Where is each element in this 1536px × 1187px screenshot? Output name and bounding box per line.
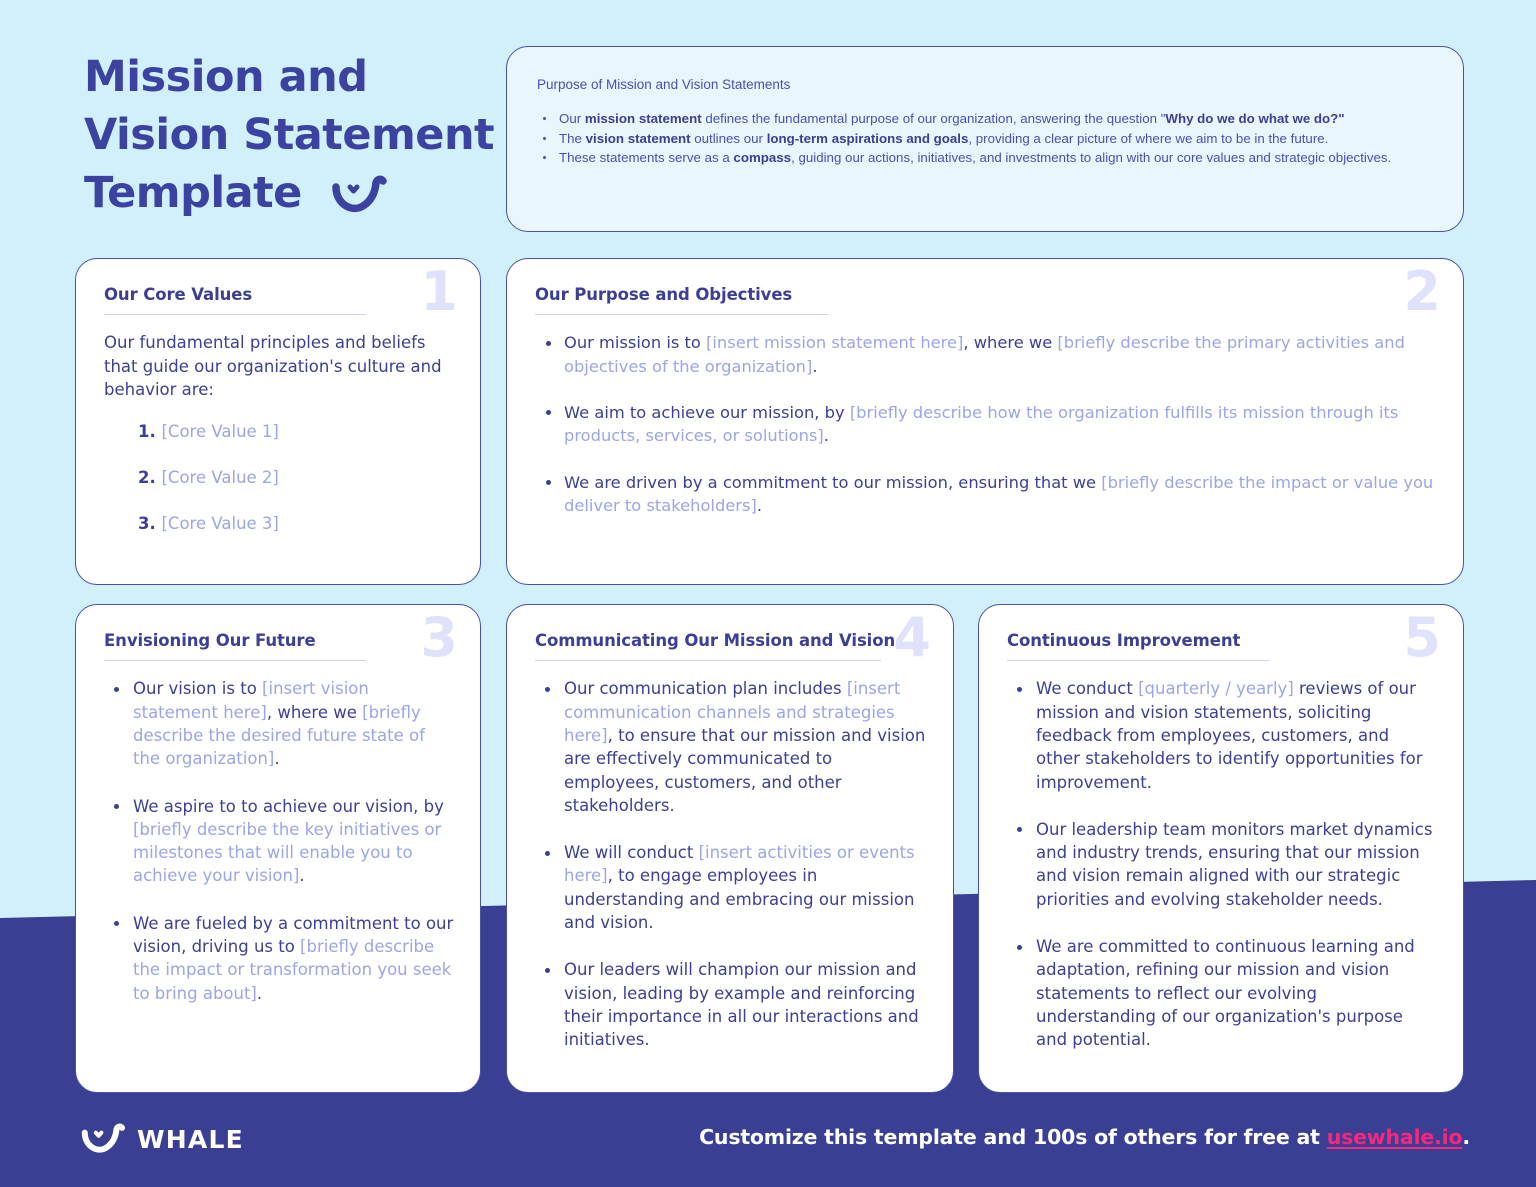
card-number-watermark: 4: [893, 611, 931, 665]
card-intro-text: Our fundamental principles and beliefs t…: [104, 331, 454, 402]
card-title: Envisioning Our Future: [104, 631, 454, 650]
placeholder-text[interactable]: [quarterly / yearly]: [1138, 679, 1294, 698]
card-bullet-item: Our leadership team monitors market dyna…: [1007, 818, 1437, 911]
body-text: , where we: [267, 703, 362, 722]
card-bullet-list: Our communication plan includes [insert …: [535, 677, 927, 1051]
page-title-line-3: Template: [84, 164, 484, 222]
body-text: Our leaders will champion our mission an…: [564, 960, 919, 1049]
card-bullet-list: Our mission is to [insert mission statem…: [535, 331, 1437, 517]
body-text: Our: [559, 111, 585, 126]
body-text: .: [257, 984, 262, 1003]
card-divider: [535, 660, 881, 661]
core-value-item: 2. [Core Value 2]: [138, 466, 454, 489]
card-title: Our Core Values: [104, 285, 454, 304]
card-title: Our Purpose and Objectives: [535, 285, 1437, 304]
body-text: .: [757, 496, 762, 515]
body-text: , to ensure that our mission and vision …: [564, 726, 925, 815]
card-bullet-item: Our communication plan includes [insert …: [535, 677, 927, 817]
card-bullet-item: We are committed to continuous learning …: [1007, 935, 1437, 1051]
purpose-bullet-item: These statements serve as a compass, gui…: [537, 148, 1433, 168]
core-value-number: 2.: [138, 468, 162, 487]
card-divider: [1007, 660, 1269, 661]
body-text: .: [812, 357, 817, 376]
body-text: , guiding our actions, initiatives, and …: [791, 150, 1391, 165]
usewhale-link[interactable]: usewhale.io: [1327, 1125, 1463, 1149]
card-number-watermark: 5: [1403, 611, 1441, 665]
body-text: Our vision is to: [133, 679, 262, 698]
page-title: Mission and Vision Statement Template: [84, 48, 484, 222]
footer-cta-prefix: Customize this template and 100s of othe…: [699, 1125, 1327, 1149]
body-text: Our leadership team monitors market dyna…: [1036, 820, 1432, 909]
body-text: outlines our: [691, 131, 767, 146]
body-text: These statements serve as a: [559, 150, 733, 165]
card-divider: [104, 660, 366, 661]
core-value-placeholder[interactable]: [Core Value 1]: [162, 422, 279, 441]
page-footer: WHALE Customize this template and 100s o…: [0, 1095, 1536, 1187]
purpose-bullet-item: The vision statement outlines our long-t…: [537, 129, 1433, 149]
card-number-watermark: 2: [1403, 265, 1441, 319]
whale-logo-text: WHALE: [137, 1125, 244, 1154]
card-bullet-item: We aspire to to achieve our vision, by […: [104, 795, 454, 888]
body-text: .: [824, 426, 829, 445]
body-text: We are committed to continuous learning …: [1036, 937, 1415, 1049]
template-page: Mission and Vision Statement Template Pu…: [0, 0, 1536, 1187]
card-bullet-item: We will conduct [insert activities or ev…: [535, 841, 927, 934]
card-title: Continuous Improvement: [1007, 631, 1437, 650]
card-divider: [535, 314, 828, 315]
core-value-placeholder[interactable]: [Core Value 2]: [162, 468, 279, 487]
body-text: The: [559, 131, 586, 146]
card-divider: [104, 314, 366, 315]
body-text: , providing a clear picture of where we …: [968, 131, 1328, 146]
purpose-bullet-item: Our mission statement defines the fundam…: [537, 109, 1433, 129]
page-title-line-1: Mission and: [84, 48, 484, 106]
whale-smile-icon: [80, 1121, 126, 1157]
emphasis-text: long-term aspirations and goals: [767, 131, 969, 146]
body-text: Our communication plan includes: [564, 679, 847, 698]
body-text: We will conduct: [564, 843, 699, 862]
emphasis-text: vision statement: [586, 131, 691, 146]
card-bullet-item: We aim to achieve our mission, by [brief…: [535, 401, 1437, 448]
body-text: We are driven by a commitment to our mis…: [564, 473, 1101, 492]
body-text: We aspire to to achieve our vision, by: [133, 797, 444, 816]
body-text: .: [299, 866, 304, 885]
card-bullet-item: Our leaders will champion our mission an…: [535, 958, 927, 1051]
core-value-number: 1.: [138, 422, 162, 441]
footer-cta-suffix: .: [1462, 1125, 1470, 1149]
card-bullet-item: Our mission is to [insert mission statem…: [535, 331, 1437, 378]
page-title-line-3-text: Template: [84, 168, 302, 218]
card-header: Continuous Improvement 5: [1007, 631, 1437, 661]
card-bullet-item: Our vision is to [insert vision statemen…: [104, 677, 454, 770]
card-bullet-list: Our vision is to [insert vision statemen…: [104, 677, 454, 1005]
card-bullet-item: We conduct [quarterly / yearly] reviews …: [1007, 677, 1437, 793]
emphasis-text: Why do we do what we do?": [1165, 111, 1344, 126]
whale-brand-logo[interactable]: WHALE: [80, 1121, 244, 1157]
card-envisioning-our-future: Envisioning Our Future 3 Our vision is t…: [75, 604, 481, 1093]
card-communicating-our-mission-and-vision: Communicating Our Mission and Vision 4 O…: [506, 604, 954, 1093]
card-header: Our Core Values 1: [104, 285, 454, 315]
body-text: We aim to achieve our mission, by: [564, 403, 850, 422]
purpose-info-box: Purpose of Mission and Vision Statements…: [506, 46, 1464, 232]
core-value-number: 3.: [138, 514, 162, 533]
page-title-line-2: Vision Statement: [84, 106, 484, 164]
body-text: .: [274, 749, 279, 768]
card-header: Our Purpose and Objectives 2: [535, 285, 1437, 315]
card-number-watermark: 1: [420, 265, 458, 319]
card-our-core-values: Our Core Values 1 Our fundamental princi…: [75, 258, 481, 585]
card-number-watermark: 3: [420, 611, 458, 665]
emphasis-text: compass: [733, 150, 791, 165]
card-bullet-item: We are fueled by a commitment to our vis…: [104, 912, 454, 1005]
emphasis-text: mission statement: [585, 111, 702, 126]
body-text: Our mission is to: [564, 333, 706, 352]
placeholder-text[interactable]: [insert mission statement here]: [706, 333, 963, 352]
whale-smile-icon: [330, 173, 388, 217]
card-continuous-improvement: Continuous Improvement 5 We conduct [qua…: [978, 604, 1464, 1093]
body-text: , to engage employees in understanding a…: [564, 866, 914, 932]
core-value-item: 1. [Core Value 1]: [138, 420, 454, 443]
card-our-purpose-and-objectives: Our Purpose and Objectives 2 Our mission…: [506, 258, 1464, 585]
placeholder-text[interactable]: [briefly describe the key initiatives or…: [133, 820, 441, 886]
card-title: Communicating Our Mission and Vision: [535, 631, 927, 650]
core-value-placeholder[interactable]: [Core Value 3]: [162, 514, 279, 533]
body-text: , where we: [963, 333, 1057, 352]
body-text: We conduct: [1036, 679, 1138, 698]
card-bullet-list: We conduct [quarterly / yearly] reviews …: [1007, 677, 1437, 1051]
body-text: defines the fundamental purpose of our o…: [702, 111, 1166, 126]
footer-call-to-action: Customize this template and 100s of othe…: [699, 1125, 1470, 1149]
core-value-item: 3. [Core Value 3]: [138, 512, 454, 535]
card-header: Envisioning Our Future 3: [104, 631, 454, 661]
card-header: Communicating Our Mission and Vision 4: [535, 631, 927, 661]
card-bullet-item: We are driven by a commitment to our mis…: [535, 471, 1437, 518]
core-values-list: 1. [Core Value 1]2. [Core Value 2]3. [Co…: [104, 420, 454, 535]
purpose-bullet-list: Our mission statement defines the fundam…: [537, 109, 1433, 168]
purpose-box-heading: Purpose of Mission and Vision Statements: [537, 77, 1433, 92]
